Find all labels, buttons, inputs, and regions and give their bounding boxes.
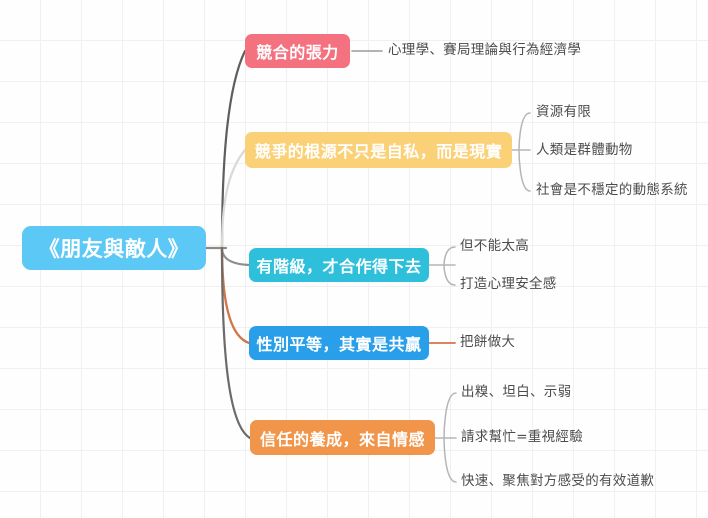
edge-to-branch-4 [222,248,249,343]
branch-node-1-label: 競合的張力 [256,39,339,63]
edge-to-branch-3 [222,248,249,265]
branch-node-1[interactable]: 競合的張力 [245,34,350,68]
leaf-node-5-1-label: 出糗、坦白、示弱 [461,384,571,400]
leaf-node-2-1-label: 資源有限 [536,104,591,120]
mindmap-canvas[interactable]: 《朋友與敵人》 競合的張力 心理學、賽局理論與行為經濟學 競爭的根源不只是自私，… [0,0,708,518]
root-node-label: 《朋友與敵人》 [39,233,190,263]
leaf-node-4-1[interactable]: 把餅做大 [460,336,515,350]
leaf-node-2-1[interactable]: 資源有限 [536,106,591,120]
leaf-node-2-3-label: 社會是不穩定的動態系統 [536,182,688,198]
branch-node-5[interactable]: 信任的養成，來自情感 [250,420,435,455]
leaf-node-5-1[interactable]: 出糗、坦白、示弱 [461,386,571,400]
edge-b3-bracket [444,247,455,285]
leaf-node-1-1[interactable]: 心理學、賽局理論與行為經濟學 [388,44,581,58]
leaf-node-5-2[interactable]: 請求幫忙=重視經驗 [461,431,583,445]
root-node[interactable]: 《朋友與敵人》 [22,226,206,270]
leaf-node-5-2-label: 請求幫忙=重視經驗 [461,429,583,445]
leaf-node-3-2-label: 打造心理安全感 [460,276,557,292]
leaf-node-2-3[interactable]: 社會是不穩定的動態系統 [536,184,688,198]
leaf-node-3-1-label: 但不能太高 [460,238,529,254]
leaf-node-5-3-label: 快速、聚焦對方感受的有效道歉 [461,473,654,489]
branch-node-5-label: 信任的養成，來自情感 [260,426,425,450]
edge-b5-bracket [444,393,456,482]
branch-node-3-label: 有階級，才合作得下去 [256,253,421,277]
leaf-node-4-1-label: 把餅做大 [460,334,515,350]
edge-b2-bracket [519,113,530,191]
branch-node-4-label: 性別平等，其實是共贏 [256,331,421,355]
branch-node-2[interactable]: 競爭的根源不只是自私，而是現實 [245,132,512,168]
leaf-node-5-3[interactable]: 快速、聚焦對方感受的有效道歉 [461,475,654,489]
branch-node-3[interactable]: 有階級，才合作得下去 [249,248,429,282]
leaf-node-2-2[interactable]: 人類是群體動物 [536,144,633,158]
leaf-node-3-2[interactable]: 打造心理安全感 [460,278,557,292]
leaf-node-1-1-label: 心理學、賽局理論與行為經濟學 [388,42,581,58]
edge-to-branch-5 [222,248,250,438]
leaf-node-2-2-label: 人類是群體動物 [536,142,633,158]
edge-to-branch-1 [222,51,245,248]
edge-to-branch-2 [222,150,245,248]
leaf-node-3-1[interactable]: 但不能太高 [460,240,529,254]
branch-node-4[interactable]: 性別平等，其實是共贏 [249,326,429,360]
branch-node-2-label: 競爭的根源不只是自私，而是現實 [255,138,503,162]
